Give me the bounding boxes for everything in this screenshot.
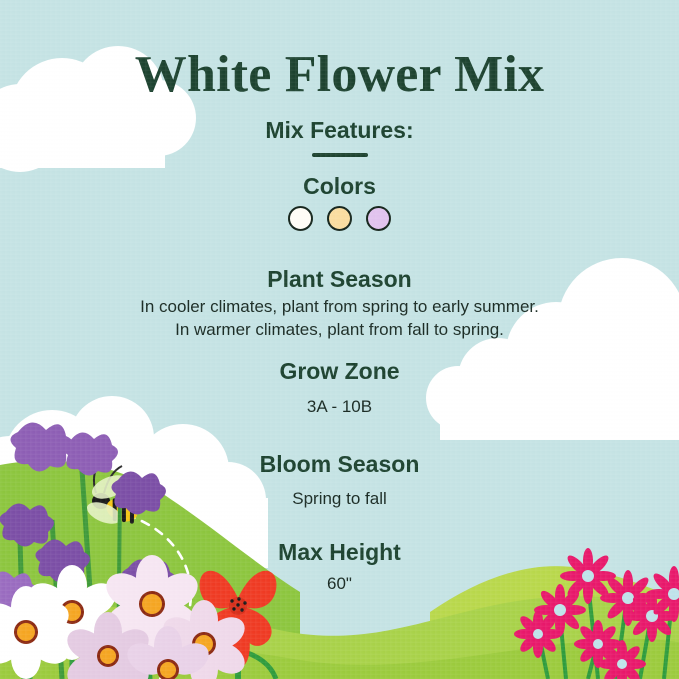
plant-season-heading: Plant Season bbox=[0, 266, 679, 293]
mix-features-subtitle: Mix Features: bbox=[0, 117, 679, 144]
bloom-season-heading: Bloom Season bbox=[0, 451, 679, 478]
color-swatch-white bbox=[288, 206, 313, 231]
plant-season-line-2: In warmer climates, plant from fall to s… bbox=[0, 319, 679, 342]
plant-season-line-1: In cooler climates, plant from spring to… bbox=[0, 296, 679, 319]
title-divider bbox=[312, 153, 368, 157]
max-height-heading: Max Height bbox=[0, 539, 679, 566]
color-swatch-lavender bbox=[366, 206, 391, 231]
bloom-season-value: Spring to fall bbox=[0, 488, 679, 511]
seed-packet-graphic: White Flower Mix Mix Features: Colors Pl… bbox=[0, 0, 679, 679]
max-height-value: 60" bbox=[0, 573, 679, 596]
color-swatch-row bbox=[0, 206, 679, 231]
grow-zone-value: 3A - 10B bbox=[0, 396, 679, 419]
page-title: White Flower Mix bbox=[0, 48, 679, 103]
grow-zone-heading: Grow Zone bbox=[0, 358, 679, 385]
plant-season-body: In cooler climates, plant from spring to… bbox=[0, 296, 679, 342]
color-swatch-cream-yellow bbox=[327, 206, 352, 231]
colors-heading: Colors bbox=[0, 173, 679, 200]
